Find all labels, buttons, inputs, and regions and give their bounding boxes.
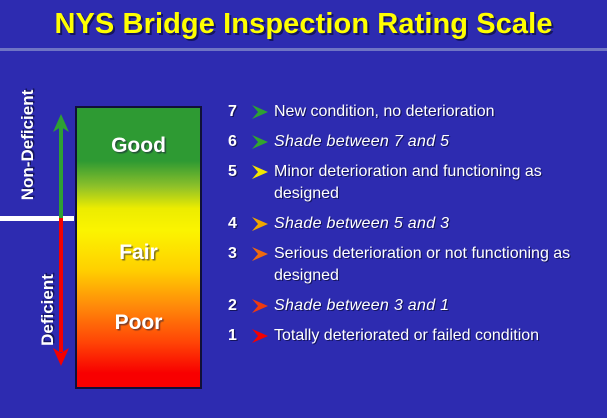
up-arrow-icon (50, 112, 72, 220)
chevron-right-icon (248, 131, 272, 153)
rating-row: 6Shade between 7 and 5 (228, 131, 600, 153)
rating-number: 1 (228, 325, 248, 347)
axis-label-non-deficient: Non-Deficient (18, 75, 38, 215)
rating-row: 7New condition, no deterioration (228, 101, 600, 123)
chevron-right-icon (248, 161, 272, 183)
chevron-right-icon (248, 295, 272, 317)
chevron-right-icon (248, 243, 272, 265)
rating-number: 5 (228, 161, 248, 183)
rating-number: 2 (228, 295, 248, 317)
chevron-right-icon (248, 101, 272, 123)
bar-label-good: Good (77, 134, 200, 158)
rating-number: 4 (228, 213, 248, 235)
rating-description: Shade between 7 and 5 (272, 131, 449, 153)
rating-number: 7 (228, 101, 248, 123)
rating-number: 6 (228, 131, 248, 153)
bar-label-fair: Fair (77, 241, 200, 265)
rating-description: Totally deteriorated or failed condition (272, 325, 539, 347)
rating-row: 4Shade between 5 and 3 (228, 213, 600, 235)
down-arrow-icon (50, 218, 72, 368)
rating-row: 2Shade between 3 and 1 (228, 295, 600, 317)
rating-description: Minor deterioration and functioning as d… (272, 161, 600, 205)
slide-canvas: NYS Bridge Inspection Rating Scale Non-D… (0, 0, 607, 418)
bar-label-poor: Poor (77, 311, 200, 335)
rating-number: 3 (228, 243, 248, 265)
title-bar: NYS Bridge Inspection Rating Scale (0, 0, 607, 48)
rating-description: Serious deterioration or not functioning… (272, 243, 600, 287)
rating-description: New condition, no deterioration (272, 101, 495, 123)
rating-description: Shade between 5 and 3 (272, 213, 449, 235)
condition-gradient-bar: Good Fair Poor (75, 106, 202, 389)
rating-row: 3Serious deterioration or not functionin… (228, 243, 600, 287)
rating-description: Shade between 3 and 1 (272, 295, 449, 317)
rating-row: 5Minor deterioration and functioning as … (228, 161, 600, 205)
chevron-right-icon (248, 213, 272, 235)
page-title: NYS Bridge Inspection Rating Scale (54, 8, 552, 41)
rating-description-list: 7New condition, no deterioration6Shade b… (228, 101, 600, 355)
rating-row: 1Totally deteriorated or failed conditio… (228, 325, 600, 347)
chevron-right-icon (248, 325, 272, 347)
title-divider-rule (0, 48, 607, 51)
